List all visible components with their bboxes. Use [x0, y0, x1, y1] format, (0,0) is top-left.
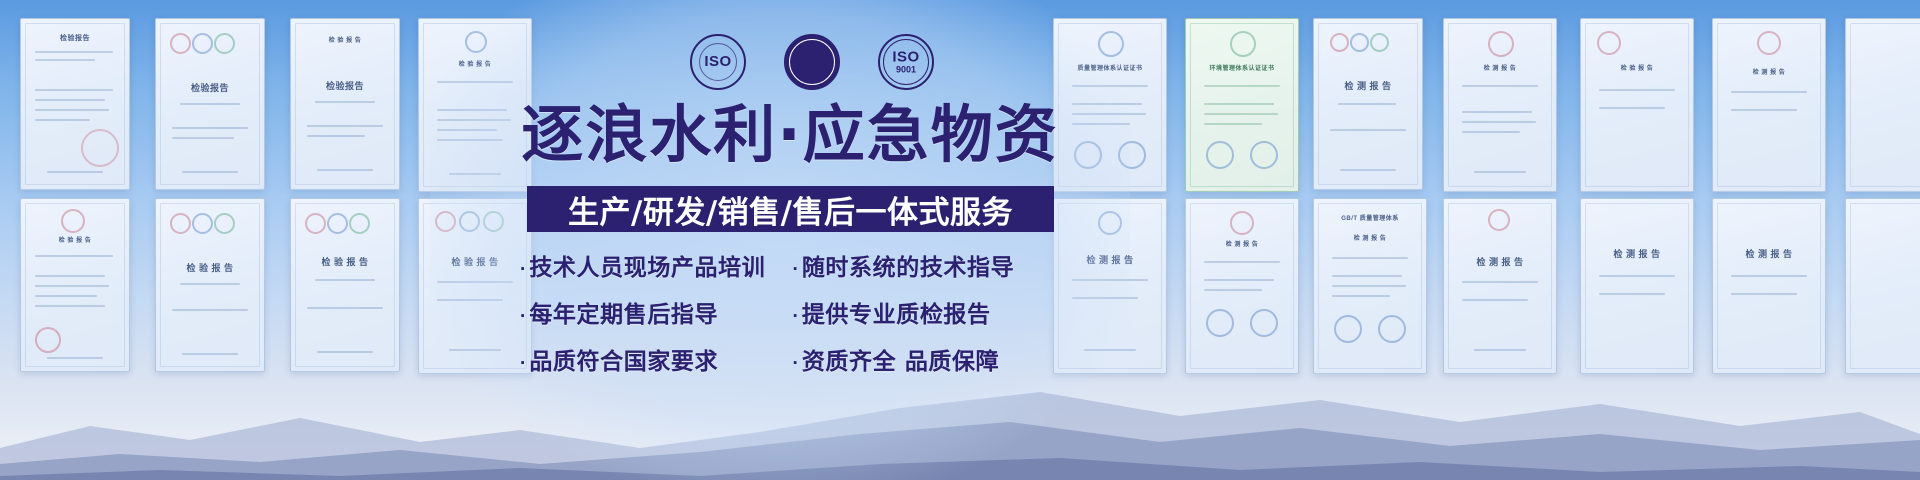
- banner-content: 逐浪水利·应急物资 生产/研发/销售/售后一体式服务 · 技术人员现场产品培训 …: [0, 0, 1920, 480]
- bullet-dot-icon: ·: [793, 260, 799, 279]
- feature-list: · 技术人员现场产品培训 · 随时系统的技术指导 · 每年定期售后指导 · 提供…: [520, 248, 1065, 389]
- feature-item: · 技术人员现场产品培训: [520, 248, 793, 282]
- feature-row: · 技术人员现场产品培训 · 随时系统的技术指导: [520, 248, 1065, 282]
- feature-label: 技术人员现场产品培训: [529, 248, 765, 282]
- feature-row: · 每年定期售后指导 · 提供专业质检报告: [520, 295, 1065, 329]
- feature-row: · 品质符合国家要求 · 资质齐全 品质保障: [520, 342, 1065, 376]
- bullet-dot-icon: ·: [793, 354, 799, 373]
- feature-item: · 随时系统的技术指导: [793, 248, 1066, 282]
- bullet-dot-icon: ·: [520, 307, 526, 326]
- feature-item: · 品质符合国家要求: [520, 342, 793, 376]
- bullet-dot-icon: ·: [793, 307, 799, 326]
- service-subtitle-bar: 生产/研发/销售/售后一体式服务: [527, 186, 1054, 232]
- feature-item: · 资质齐全 品质保障: [793, 342, 1066, 376]
- page-title: 逐浪水利·应急物资: [510, 104, 1070, 166]
- feature-item: · 每年定期售后指导: [520, 295, 793, 329]
- feature-label: 随时系统的技术指导: [802, 248, 1014, 282]
- promo-banner: 检验报告 检验报告 检 验 报 告 检验报告: [0, 0, 1920, 480]
- bullet-dot-icon: ·: [520, 354, 526, 373]
- feature-label: 提供专业质检报告: [802, 295, 991, 329]
- feature-label: 品质符合国家要求: [529, 342, 718, 376]
- feature-label: 每年定期售后指导: [529, 295, 718, 329]
- service-subtitle-text: 生产/研发/销售/售后一体式服务: [568, 187, 1013, 232]
- feature-label: 资质齐全 品质保障: [802, 342, 999, 376]
- bullet-dot-icon: ·: [520, 260, 526, 279]
- feature-item: · 提供专业质检报告: [793, 295, 1066, 329]
